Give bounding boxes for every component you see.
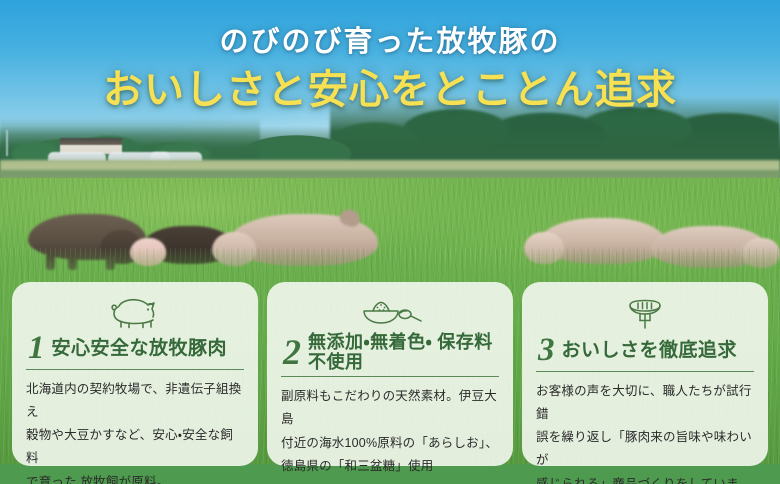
card-heading: 2 無添加・無着色・ 保存料不使用 — [281, 332, 499, 377]
card-heading: 1 安心安全な放牧豚肉 — [26, 332, 244, 370]
promo-banner: のびのび育った放牧豚の おいしさと安心をとことん追求 1 安心安 — [0, 0, 780, 484]
card-body-line: お客様の声を大切に、職人たちが試行錯 — [536, 380, 754, 426]
card-number: 1 — [26, 332, 45, 365]
feature-card-3: 3 おいしさを徹底追求 お客様の声を大切に、職人たちが試行錯 誤を繰り返し「豚肉… — [522, 282, 768, 466]
salt-bowl-icon — [281, 294, 499, 330]
headline-line-2: おいしさと安心をとことん追求 — [0, 64, 780, 116]
headline: のびのび育った放牧豚の おいしさと安心をとことん追求 — [0, 24, 780, 116]
card-body: 北海道内の契約牧場で、非遺伝子組換え 穀物や大豆かすなど、安心・安全な飼料 で育… — [26, 378, 244, 484]
feature-card-1: 1 安心安全な放牧豚肉 北海道内の契約牧場で、非遺伝子組換え 穀物や大豆かすなど… — [12, 282, 258, 466]
card-title: 無添加・無着色・ 保存料不使用 — [308, 332, 499, 372]
card-number: 2 — [281, 334, 301, 370]
card-body-line: 徳島県の「和三盆糖」使用 — [281, 455, 499, 478]
card-heading: 3 おいしさを徹底追求 — [536, 334, 754, 372]
card-body: お客様の声を大切に、職人たちが試行錯 誤を繰り返し「豚肉来の旨味や味わいが 感じ… — [536, 380, 754, 484]
card-body-line: 感じられる」商品づくりをしています。 — [536, 473, 754, 484]
card-body-line: で育った 放牧飼が原料。 — [26, 471, 244, 484]
utility-pole — [6, 130, 8, 156]
card-title: おいしさを徹底追求 — [562, 340, 738, 361]
pig-icon — [26, 294, 244, 330]
feature-cards: 1 安心安全な放牧豚肉 北海道内の契約牧場で、非遺伝子組換え 穀物や大豆かすなど… — [0, 282, 780, 468]
feature-card-2: 2 無添加・無着色・ 保存料不使用 副原料もこだわりの天然素材。伊豆大島 付近の… — [267, 282, 513, 466]
card-title-line: 安心安全な放牧豚肉 — [52, 338, 228, 359]
card-body-line: 付近の海水100%原料の「あらしお」、 — [281, 432, 499, 455]
card-title-line: 無添加・無着色・ — [308, 332, 432, 352]
card-body-line: 誤を繰り返し「豚肉来の旨味や味わいが — [536, 426, 754, 472]
card-title: 安心安全な放牧豚肉 — [52, 338, 228, 359]
card-body-line: 副原料もこだわりの天然素材。伊豆大島 — [281, 385, 499, 431]
card-title-line: おいしさを徹底追求 — [562, 340, 738, 361]
card-body-line: 穀物や大豆かすなど、安心・安全な飼料 — [26, 424, 244, 470]
card-body-line: 北海道内の契約牧場で、非遺伝子組換え — [26, 378, 244, 424]
card-body: 副原料もこだわりの天然素材。伊豆大島 付近の海水100%原料の「あらしお」、 徳… — [281, 385, 499, 478]
sausage-fork-icon — [536, 294, 754, 332]
card-number: 3 — [536, 334, 555, 367]
headline-line-1: のびのび育った放牧豚の — [0, 24, 780, 60]
